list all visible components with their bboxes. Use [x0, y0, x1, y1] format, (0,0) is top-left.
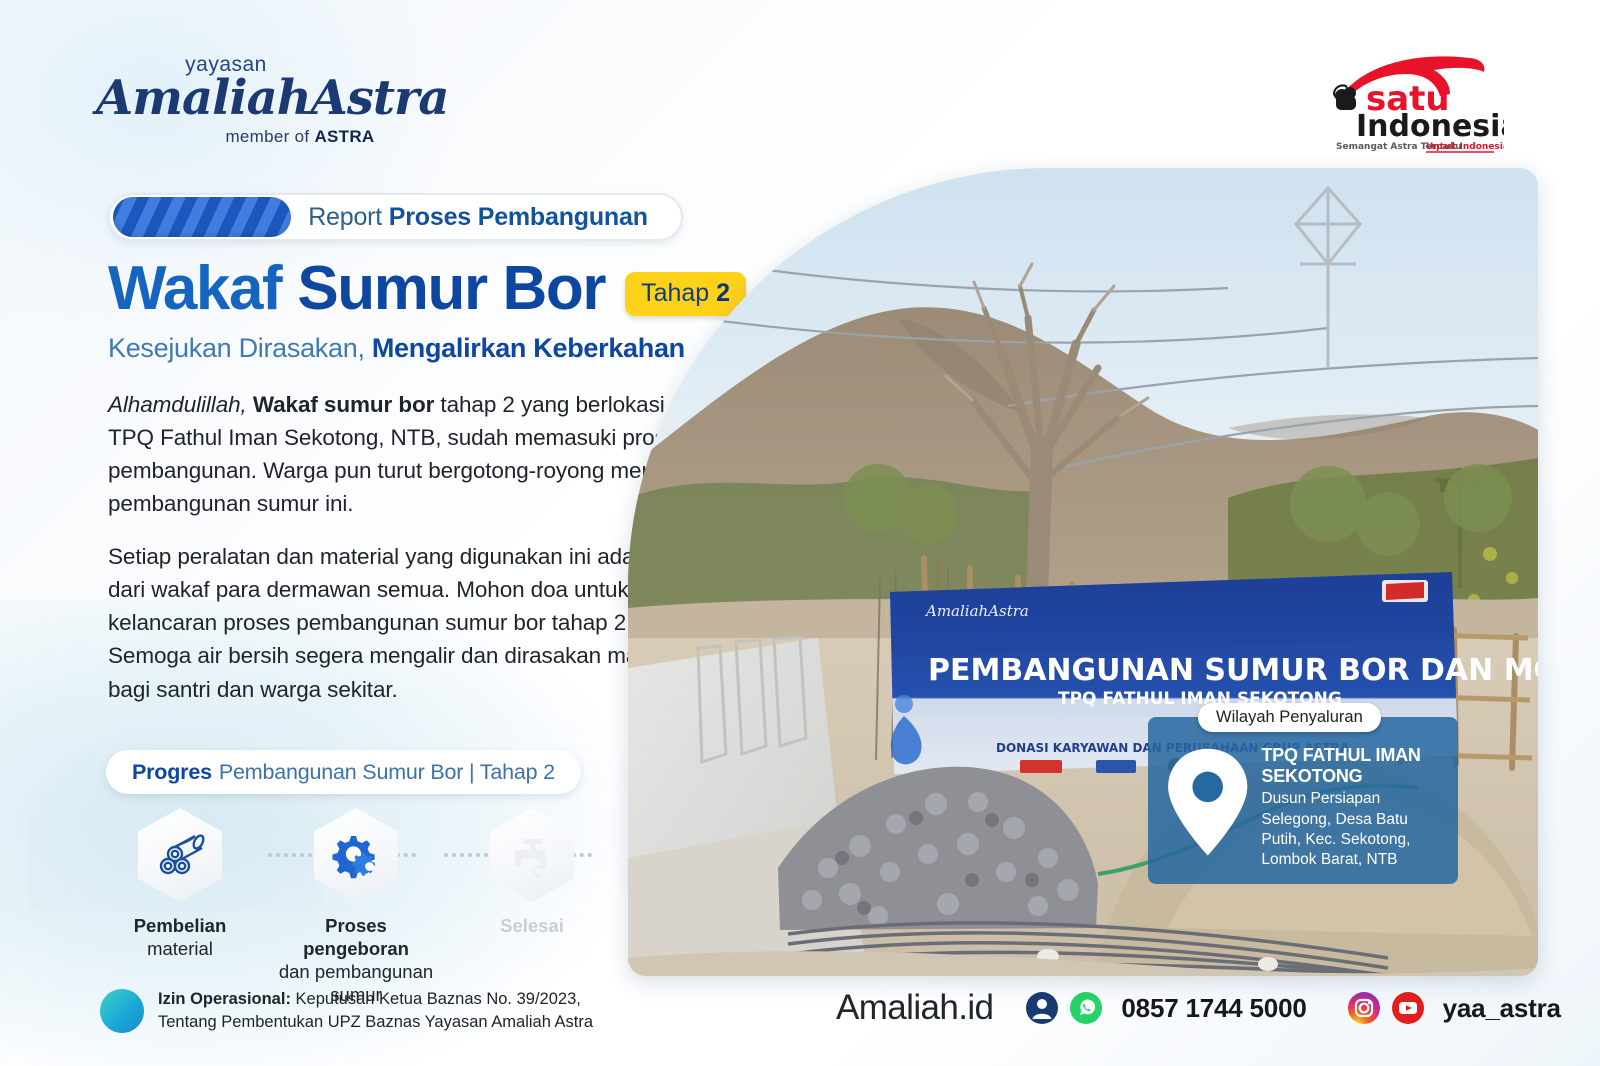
- progress-stepper: Pembelian material Proses pengeboran dan…: [96, 808, 656, 968]
- instagram-icon[interactable]: [1347, 991, 1381, 1025]
- body-p1-italic: Alhamdulillah,: [108, 392, 253, 417]
- gears-icon: [329, 830, 383, 880]
- step-1-hex: [138, 808, 222, 902]
- logo-member-line: member of ASTRA: [174, 127, 426, 147]
- step-1-sub: material: [100, 937, 260, 960]
- wilayah-address: Dusun Persiapan Selegong, Desa Batu Puti…: [1261, 789, 1444, 870]
- step-2-title: Proses pengeboran: [276, 914, 436, 960]
- subtitle-light: Kesejukan Dirasakan,: [108, 333, 372, 363]
- faucet-icon: [507, 830, 557, 880]
- report-badge: Report Proses Pembangunan: [108, 193, 683, 241]
- step-2-hex: [314, 808, 398, 902]
- progress-step-selesai[interactable]: Selesai: [452, 808, 612, 937]
- body-p1-bold: Wakaf sumur bor: [253, 392, 434, 417]
- map-pin-icon: [1162, 745, 1253, 859]
- logo-brand-name: AmaliahAstra: [96, 73, 426, 123]
- youtube-icon[interactable]: [1391, 991, 1425, 1025]
- svg-text:AmaliahAstra: AmaliahAstra: [924, 602, 1029, 620]
- contact-bar: Amaliah.id 0857 1744 5000: [836, 988, 1591, 1028]
- satu-indonesia-logo: satu Indonesia Semangat Astra Terpadu Un…: [1294, 50, 1504, 154]
- progress-label-rest: Pembangunan Sumur Bor | Tahap 2: [219, 760, 555, 785]
- svg-text:Indonesia: Indonesia: [1356, 109, 1504, 144]
- step-1-title: Pembelian: [100, 914, 260, 937]
- permit-line-2: Tentang Pembentukan UPZ Baznas Yayasan A…: [158, 1013, 593, 1031]
- step-3-hex: [490, 808, 574, 902]
- subtitle-bold: Mengalirkan Keberkahan: [372, 333, 685, 363]
- permit-label: Izin Operasional:: [158, 990, 291, 1008]
- permit-text: Izin Operasional: Keputusan Ketua Baznas…: [158, 988, 593, 1035]
- report-badge-text: Report Proses Pembangunan: [291, 203, 681, 232]
- progress-label-bold: Progres: [132, 760, 212, 785]
- page-title: Wakaf Sumur Bor Tahap 2: [108, 258, 746, 320]
- whatsapp-icon[interactable]: [1069, 991, 1103, 1025]
- phase-badge-number: 2: [716, 279, 730, 307]
- social-handle: yaa_astra: [1443, 993, 1561, 1024]
- infographic-poster: yayasan AmaliahAstra member of ASTRA sat…: [0, 0, 1600, 1066]
- progress-step-pengeboran[interactable]: Proses pengeboran dan pembangunan sumur: [276, 808, 436, 1007]
- striped-accent-bar: [113, 197, 291, 237]
- phone-number: 0857 1744 5000: [1121, 993, 1306, 1024]
- person-icon[interactable]: [1025, 991, 1059, 1025]
- report-prefix: Report: [308, 203, 389, 231]
- progress-header-badge: ProgresPembangunan Sumur Bor | Tahap 2: [106, 750, 581, 794]
- satu-tagline-right: Untuk Indonesia: [1426, 142, 1504, 152]
- logo-member-brand: ASTRA: [314, 127, 374, 146]
- svg-text:PEMBANGUNAN SUMUR BOR DAN MCK: PEMBANGUNAN SUMUR BOR DAN MCK: [928, 653, 1538, 688]
- permit-dot-icon: [100, 989, 144, 1033]
- website-label[interactable]: Amaliah.id: [836, 988, 993, 1028]
- title-word-sumur-bor: Sumur Bor: [297, 258, 605, 320]
- progress-step-pembelian[interactable]: Pembelian material: [100, 808, 260, 960]
- permit-line-1: Keputusan Ketua Baznas No. 39/2023,: [291, 990, 581, 1008]
- project-photo: AmaliahAstra PEMBANGUNAN SUMUR BOR DAN M…: [628, 168, 1538, 976]
- wilayah-penyaluran-card: Wilayah Penyaluran TPQ FATHUL IMAN SEKOT…: [1148, 717, 1458, 884]
- amaliah-astra-logo: yayasan AmaliahAstra member of ASTRA: [96, 54, 426, 147]
- page-subtitle: Kesejukan Dirasakan, Mengalirkan Keberka…: [108, 333, 685, 364]
- wilayah-name: TPQ FATHUL IMAN SEKOTONG: [1261, 745, 1444, 787]
- phase-badge: Tahap 2: [625, 272, 746, 316]
- wilayah-tag: Wilayah Penyaluran: [1198, 703, 1381, 732]
- wilayah-body: TPQ FATHUL IMAN SEKOTONG Dusun Persiapan…: [1162, 745, 1444, 870]
- phase-badge-prefix: Tahap: [641, 279, 716, 307]
- title-word-wakaf: Wakaf: [108, 258, 281, 320]
- body-paragraph-1: Alhamdulillah, Wakaf sumur bor tahap 2 y…: [108, 388, 728, 520]
- step-3-title: Selesai: [452, 914, 612, 937]
- report-bold: Proses Pembangunan: [389, 203, 648, 231]
- operational-permit: Izin Operasional: Keputusan Ketua Baznas…: [100, 988, 593, 1035]
- pipes-icon: [155, 830, 205, 880]
- logo-member-prefix: member of: [225, 127, 314, 146]
